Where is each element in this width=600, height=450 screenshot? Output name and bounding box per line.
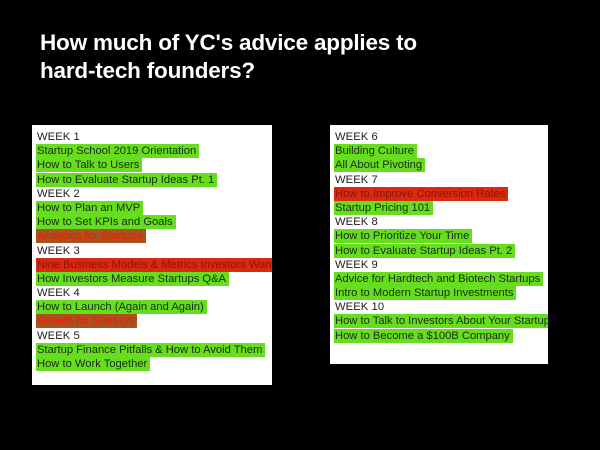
page-title: How much of YC's advice applies to hard-… (40, 29, 560, 85)
lecture-item-label: How to Improve Conversion Rates (334, 187, 508, 201)
lecture-item: How to Plan an MVP (32, 201, 272, 215)
curriculum-card-right: WEEK 6Building CultureAll About Pivoting… (330, 125, 548, 364)
page-title-line-2: hard-tech founders? (40, 57, 560, 85)
lecture-item-label: Intro to Modern Startup Investments (334, 286, 516, 300)
lecture-item-label: Startup Pricing 101 (334, 201, 433, 215)
lecture-item-label: How to Launch (Again and Again) (36, 300, 207, 314)
week-heading-label: WEEK 5 (36, 329, 83, 343)
lecture-item: Startup Finance Pitfalls & How to Avoid … (32, 343, 272, 357)
lecture-item: How to Evaluate Startup Ideas Pt. 2 (330, 244, 548, 258)
lecture-item-label: Building Culture (334, 144, 417, 158)
week-heading: WEEK 9 (330, 258, 548, 272)
lecture-item: How to Work Together (32, 357, 272, 371)
week-heading-label: WEEK 7 (334, 173, 381, 187)
lecture-item: How to Become a $100B Company (330, 329, 548, 343)
lecture-item: All About Pivoting (330, 158, 548, 172)
lecture-item-label: Startup Finance Pitfalls & How to Avoid … (36, 343, 265, 357)
lecture-item-label: All About Pivoting (334, 158, 425, 172)
lecture-item: How to Prioritize Your Time (330, 229, 548, 243)
week-heading: WEEK 8 (330, 215, 548, 229)
lecture-item-label: Nine Business Models & Metrics Investors… (36, 258, 272, 272)
lecture-item-label: How to Become a $100B Company (334, 329, 513, 343)
lecture-item: Advice for Hardtech and Biotech Startups (330, 272, 548, 286)
week-heading-label: WEEK 10 (334, 300, 387, 314)
lecture-item-label: How to Evaluate Startup Ideas Pt. 1 (36, 173, 217, 187)
lecture-item: Startup School 2019 Orientation (32, 144, 272, 158)
lecture-item-label: Advice for Hardtech and Biotech Startups (334, 272, 543, 286)
lecture-item-label: Startup School 2019 Orientation (36, 144, 199, 158)
week-heading: WEEK 6 (330, 130, 548, 144)
week-heading-label: WEEK 2 (36, 187, 83, 201)
lecture-item-label: Growth for Startups (36, 314, 137, 328)
week-heading-label: WEEK 9 (334, 258, 381, 272)
week-heading-label: WEEK 1 (36, 130, 83, 144)
lecture-item: How Investors Measure Startups Q&A (32, 272, 272, 286)
lecture-item: Intro to Modern Startup Investments (330, 286, 548, 300)
lecture-item-label: How to Evaluate Startup Ideas Pt. 2 (334, 244, 515, 258)
lecture-item: How to Talk to Investors About Your Star… (330, 314, 548, 328)
lecture-item-label: How to Prioritize Your Time (334, 229, 472, 243)
week-heading-label: WEEK 8 (334, 215, 381, 229)
week-heading: WEEK 1 (32, 130, 272, 144)
lecture-item: Building Culture (330, 144, 548, 158)
page-title-line-1: How much of YC's advice applies to (40, 29, 560, 57)
lecture-item: Growth for Startups (32, 314, 272, 328)
week-heading: WEEK 7 (330, 173, 548, 187)
lecture-item-label: How to Set KPIs and Goals (36, 215, 176, 229)
lecture-item: Analytics for Startups (32, 229, 272, 243)
week-heading: WEEK 3 (32, 244, 272, 258)
week-heading: WEEK 4 (32, 286, 272, 300)
week-heading-label: WEEK 3 (36, 244, 83, 258)
lecture-item: How to Evaluate Startup Ideas Pt. 1 (32, 173, 272, 187)
lecture-item: How to Talk to Users (32, 158, 272, 172)
slide-canvas: How much of YC's advice applies to hard-… (0, 0, 600, 450)
lecture-item: How to Launch (Again and Again) (32, 300, 272, 314)
week-heading-label: WEEK 4 (36, 286, 83, 300)
lecture-item-label: How to Plan an MVP (36, 201, 143, 215)
week-heading: WEEK 10 (330, 300, 548, 314)
lecture-item-label: Analytics for Startups (36, 229, 146, 243)
curriculum-card-left: WEEK 1Startup School 2019 OrientationHow… (32, 125, 272, 385)
lecture-item: How to Set KPIs and Goals (32, 215, 272, 229)
lecture-item-label: How to Work Together (36, 357, 150, 371)
week-heading: WEEK 5 (32, 329, 272, 343)
week-heading-label: WEEK 6 (334, 130, 381, 144)
week-heading: WEEK 2 (32, 187, 272, 201)
lecture-item-label: How to Talk to Users (36, 158, 142, 172)
lecture-item: Nine Business Models & Metrics Investors… (32, 258, 272, 272)
lecture-item: Startup Pricing 101 (330, 201, 548, 215)
lecture-item-label: How to Talk to Investors About Your Star… (334, 314, 548, 328)
lecture-item: How to Improve Conversion Rates (330, 187, 548, 201)
lecture-item-label: How Investors Measure Startups Q&A (36, 272, 229, 286)
